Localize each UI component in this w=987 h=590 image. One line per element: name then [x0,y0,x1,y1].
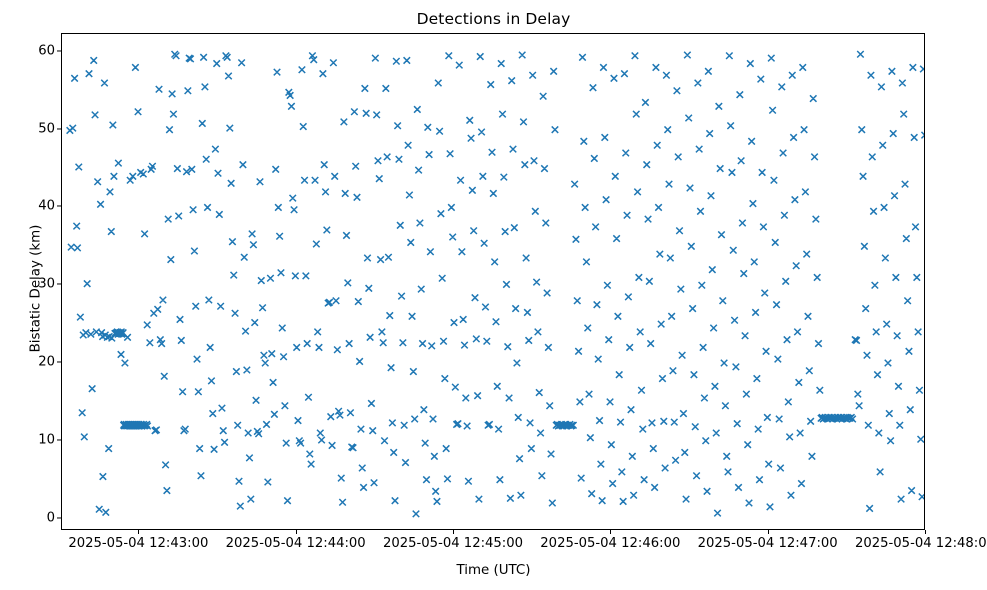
y-tick-label: 10 [9,432,55,447]
scatter-marker-set [67,51,924,517]
y-tick-label: 0 [9,510,55,525]
x-tick-mark [453,530,454,534]
y-tick-mark [57,361,61,362]
x-tick-label: 2025-05-04 12:45:00 [383,536,523,551]
y-tick-mark [57,50,61,51]
y-tick-mark [57,439,61,440]
plot-axes [61,33,925,530]
y-tick-mark [57,284,61,285]
x-tick-mark [138,530,139,534]
y-tick-mark [57,128,61,129]
y-tick-label: 50 [9,121,55,136]
chart-title: Detections in Delay [0,10,987,28]
y-tick-mark [57,517,61,518]
y-axis-label: Bistatic Delay (km) [29,189,44,389]
x-tick-mark [925,530,926,534]
x-tick-label: 2025-05-04 12:43:00 [68,536,208,551]
y-tick-label: 60 [9,43,55,58]
x-tick-mark [610,530,611,534]
matplotlib-figure: Detections in Delay 0102030405060 2025-0… [0,0,987,590]
y-tick-mark [57,206,61,207]
scatter-plot-area [62,34,924,529]
x-tick-label: 2025-05-04 12:48:00 [855,536,987,551]
scatter-points-layer [62,34,924,529]
x-tick-mark [768,530,769,534]
x-tick-label: 2025-05-04 12:44:00 [226,536,366,551]
x-tick-label: 2025-05-04 12:47:00 [698,536,838,551]
x-tick-mark [296,530,297,534]
x-axis-label: Time (UTC) [0,563,987,578]
x-tick-label: 2025-05-04 12:46:00 [540,536,680,551]
